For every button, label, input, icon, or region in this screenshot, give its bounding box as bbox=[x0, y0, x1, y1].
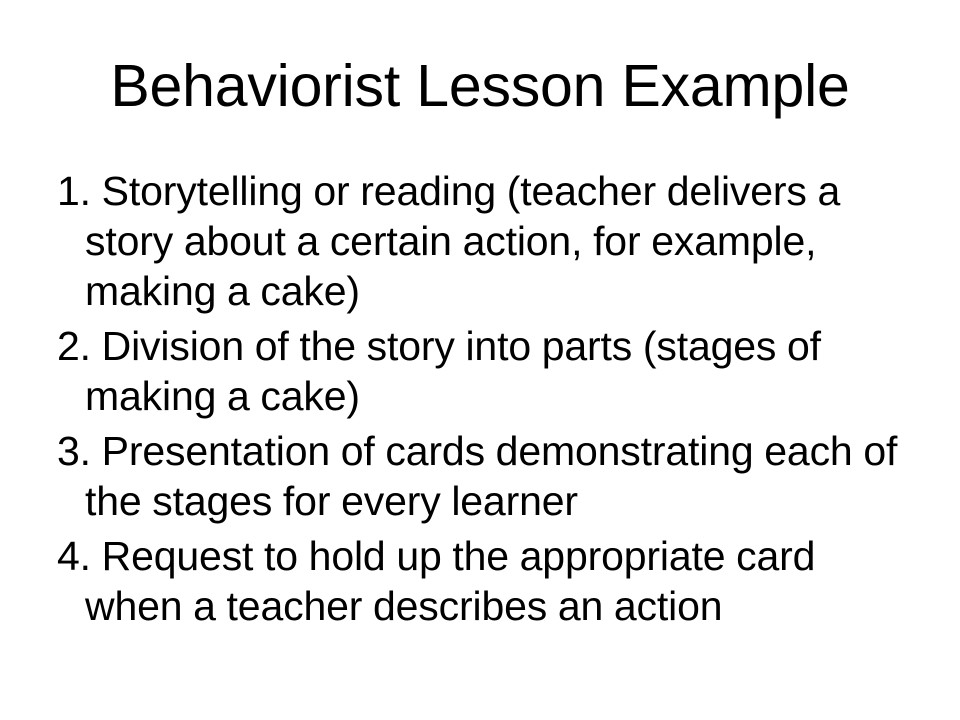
list-item: 3. Presentation of cards demonstrating e… bbox=[57, 426, 902, 526]
list-item: 2. Division of the story into parts (sta… bbox=[57, 321, 902, 421]
slide-title: Behaviorist Lesson Example bbox=[0, 52, 960, 120]
list-item: 4. Request to hold up the appropriate ca… bbox=[57, 531, 902, 631]
list-item: 1. Storytelling or reading (teacher deli… bbox=[57, 166, 902, 316]
presentation-slide: Behaviorist Lesson Example 1. Storytelli… bbox=[0, 0, 960, 720]
slide-body-list: 1. Storytelling or reading (teacher deli… bbox=[57, 166, 902, 631]
